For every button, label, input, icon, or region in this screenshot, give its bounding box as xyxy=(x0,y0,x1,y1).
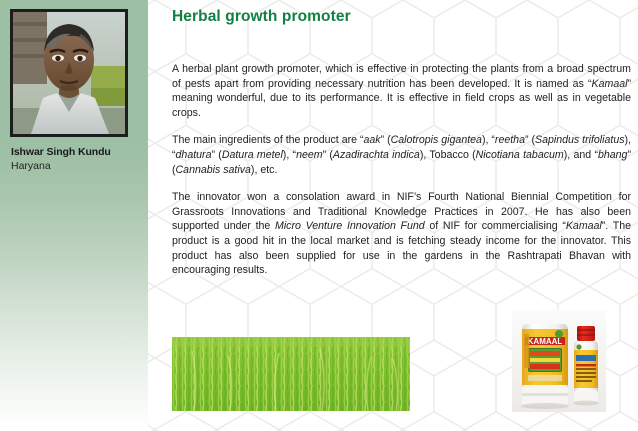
product-bottles-image: KAMAAL xyxy=(512,310,606,412)
svg-text:KAMAAL: KAMAAL xyxy=(528,337,563,346)
paragraph-award: The innovator won a consolation award in… xyxy=(172,190,631,278)
innovator-caption: Ishwar Singh Kundu Haryana xyxy=(11,146,143,173)
innovator-portrait xyxy=(10,9,128,137)
innovator-name: Ishwar Singh Kundu xyxy=(11,146,143,159)
crop-field-image xyxy=(172,337,410,411)
innovator-state: Haryana xyxy=(11,160,143,173)
article-body: A herbal plant growth promoter, which is… xyxy=(172,62,631,278)
product-bottles-photo: KAMAAL xyxy=(512,310,606,412)
page-title: Herbal growth promoter xyxy=(172,8,351,26)
sidebar: Ishwar Singh Kundu Haryana xyxy=(0,0,148,431)
paragraph-ingredients: The main ingredients of the product are … xyxy=(172,133,631,177)
crop-field-photo xyxy=(172,337,410,411)
paragraph-description: A herbal plant growth promoter, which is… xyxy=(172,62,631,120)
innovator-portrait-photo xyxy=(13,12,125,134)
